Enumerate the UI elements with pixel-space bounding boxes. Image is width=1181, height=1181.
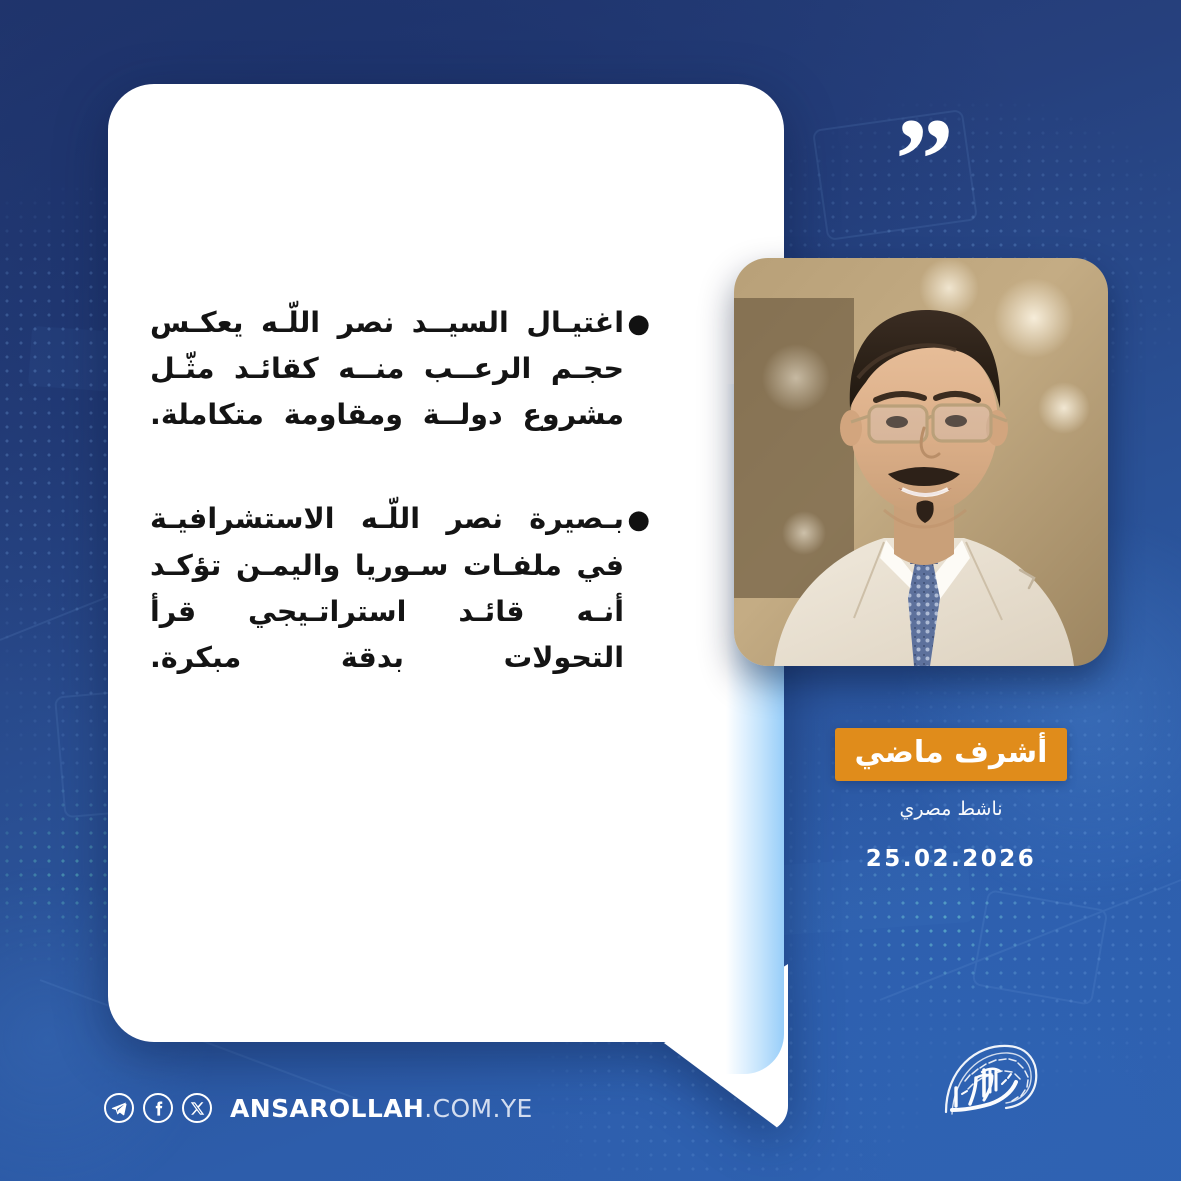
list-item: ● اغتيـال السيــد نصر اللّـه يعكـس حجـم … xyxy=(150,300,650,438)
speaker-role: ناشط مصري xyxy=(820,798,1082,820)
quote-text-2: بـصيرة نصر اللّـه الاستشرافيـة في ملفـات… xyxy=(150,496,624,681)
quote-bullet-list: ● اغتيـال السيــد نصر اللّـه يعكـس حجـم … xyxy=(150,300,650,739)
quote-text-1: اغتيـال السيــد نصر اللّـه يعكـس حجـم ال… xyxy=(150,300,624,438)
website-tld: .COM.YE xyxy=(424,1094,532,1123)
bullet-icon: ● xyxy=(624,300,650,340)
x-icon[interactable] xyxy=(182,1093,212,1123)
list-item: ● بـصيرة نصر اللّـه الاستشرافيـة في ملفـ… xyxy=(150,496,650,681)
quote-card-canvas: ” ● اغتيـال السيــد نصر اللّـه يعكـس حجـ… xyxy=(0,0,1181,1181)
attribution-block: أشرف ماضي ناشط مصري 25.02.2026 xyxy=(820,728,1082,872)
speaker-portrait xyxy=(734,258,1108,666)
facebook-icon[interactable] xyxy=(143,1093,173,1123)
website-url[interactable]: ANSAROLLAH.COM.YE xyxy=(230,1096,533,1121)
bullet-icon: ● xyxy=(624,496,650,536)
quotation-mark-icon: ” xyxy=(895,118,956,203)
telegram-icon[interactable] xyxy=(104,1093,134,1123)
speaker-name-badge: أشرف ماضي xyxy=(835,728,1068,781)
publish-date: 25.02.2026 xyxy=(820,846,1082,872)
website-name: ANSAROLLAH xyxy=(230,1094,424,1123)
ansarollah-logo-icon xyxy=(932,1034,1052,1130)
footer-bar: ANSAROLLAH.COM.YE xyxy=(104,1093,533,1123)
